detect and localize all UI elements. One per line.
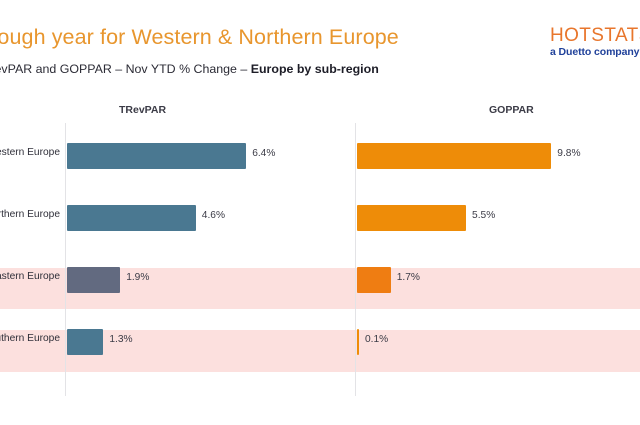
subtitle-plain-text: TRevPAR and GOPPAR – Nov YTD % Change – [0,62,251,76]
category-label: Southern Europe [0,333,60,344]
bar-value-trevpar: 6.4% [252,148,275,159]
bar-value-goppar: 0.1% [365,334,388,345]
chart-row: Western Europe 6.4% 9.8% [0,131,640,193]
chart-row: Southern Europe 1.3% 0.1% [0,317,640,379]
bar-value-goppar: 5.5% [472,210,495,221]
bar-value-goppar: 1.7% [397,272,420,283]
hotstats-logo: HOTSTATS a Duetto company [550,26,640,58]
panel-header-trevpar: TRevPAR [119,104,166,116]
category-label: Western Europe [0,147,60,158]
bar-goppar [357,329,359,355]
bar-trevpar [67,267,120,293]
bar-goppar [357,267,391,293]
chart-row: Northern Europe 4.6% 5.5% [0,193,640,255]
bar-goppar [357,205,466,231]
bar-trevpar [67,205,196,231]
logo-tagline: a Duetto company [550,47,640,58]
bar-trevpar [67,329,103,355]
footer-whitespace [0,397,640,425]
chart-row: Eastern Europe 1.9% 1.7% [0,255,640,317]
category-label: Northern Europe [0,209,60,220]
bar-value-trevpar: 1.3% [109,334,132,345]
bar-value-trevpar: 4.6% [202,210,225,221]
slide-canvas: A tough year for Western & Northern Euro… [0,0,640,425]
chart-area: TRevPAR GOPPAR Western Europe 6.4% 9.8% … [0,96,640,396]
subtitle-bold-text: Europe by sub-region [251,62,379,76]
panel-header-goppar: GOPPAR [489,104,534,116]
page-subtitle: TRevPAR and GOPPAR – Nov YTD % Change – … [0,62,538,76]
bar-goppar [357,143,551,169]
bar-value-goppar: 9.8% [557,148,580,159]
page-title: A tough year for Western & Northern Euro… [0,25,532,50]
bar-trevpar [67,143,246,169]
logo-wordmark: HOTSTATS [550,26,640,45]
category-label: Eastern Europe [0,271,60,282]
bar-value-trevpar: 1.9% [126,272,149,283]
